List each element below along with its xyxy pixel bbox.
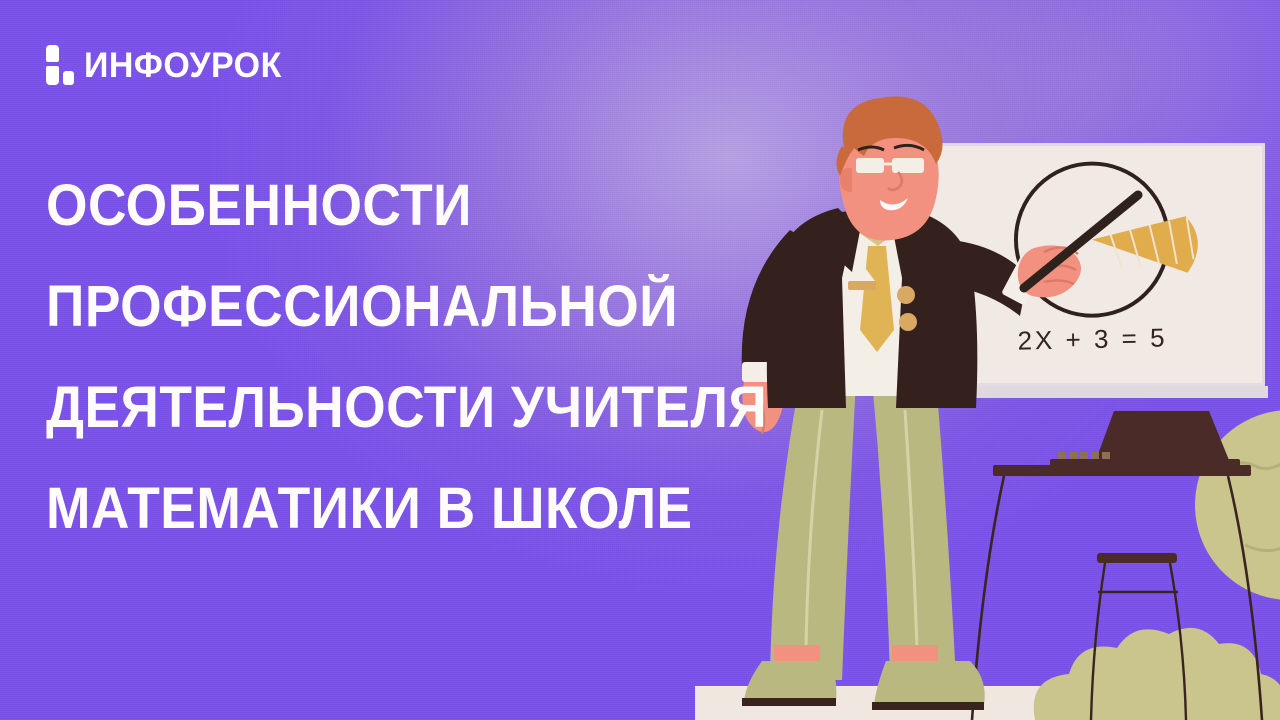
title-line-2: ПРОФЕССИОНАЛЬНОЙ [46,256,690,357]
page-title: ОСОБЕННОСТИ ПРОФЕССИОНАЛЬНОЙ ДЕЯТЕЛЬНОСТ… [46,155,746,559]
whiteboard-tray [917,386,1268,398]
plant-bush [1034,628,1280,720]
brand-logo-text: ИНФОУРОК [84,48,282,83]
brand-logo[interactable]: ИНФОУРОК [46,45,288,85]
laptop-icon [1050,411,1240,467]
infourok-blocks-mark-icon [46,45,73,85]
hatched-sector [1092,216,1198,273]
title-line-3: ДЕЯТЕЛЬНОСТИ УЧИТЕЛЯ [46,357,690,458]
title-line-4: МАТЕМАТИКИ В ШКОЛЕ [46,458,690,559]
title-line-1: ОСОБЕННОСТИ [46,155,690,256]
whiteboard: 2X + 3 = 5 [920,143,1265,386]
slide-canvas: 2X + 3 = 5 [0,0,1280,720]
